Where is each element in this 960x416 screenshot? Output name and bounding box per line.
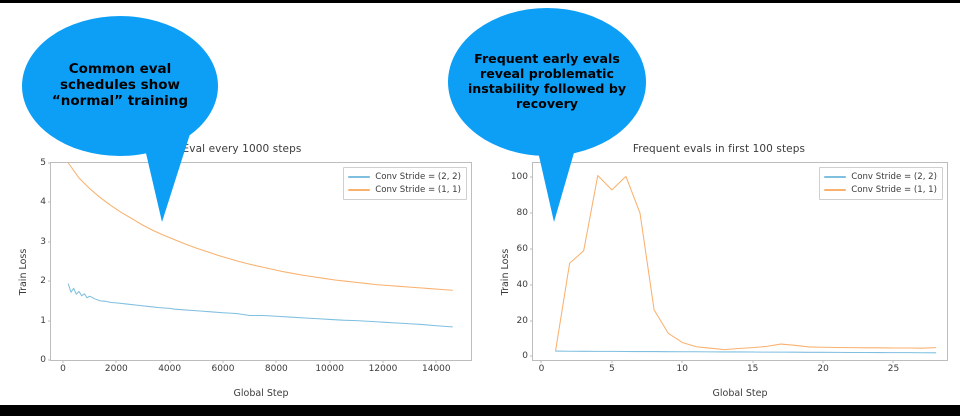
- y-axis-label-right: Train Loss: [500, 249, 511, 296]
- y-axis-label-left: Train Loss: [18, 249, 29, 296]
- y-tick-mark: [48, 360, 51, 361]
- y-tick-mark: [530, 356, 533, 357]
- top-border-rule: [0, 0, 960, 3]
- x-tick-mark: [752, 360, 753, 363]
- x-tick-mark: [276, 360, 277, 363]
- y-tick-label: 1: [40, 316, 46, 326]
- x-tick-label: 8000: [265, 364, 288, 374]
- x-tick-label: 15: [747, 364, 758, 374]
- legend-swatch-orange: [824, 189, 846, 192]
- x-tick-mark: [169, 360, 170, 363]
- x-tick-label: 5: [609, 364, 615, 374]
- legend-item-blue: Conv Stride = (2, 2): [824, 171, 937, 183]
- callout-bubble-right-body: Frequent early evals reveal problematic …: [448, 8, 646, 156]
- y-tick-mark: [48, 281, 51, 282]
- x-tick-label: 6000: [212, 364, 235, 374]
- x-tick-mark: [611, 360, 612, 363]
- y-tick-label: 3: [40, 237, 46, 247]
- x-tick-mark: [541, 360, 542, 363]
- y-tick-mark: [530, 320, 533, 321]
- y-tick-label: 40: [517, 280, 528, 290]
- y-tick-label: 60: [517, 244, 528, 254]
- legend-swatch-orange: [348, 189, 370, 192]
- x-tick-mark: [383, 360, 384, 363]
- figure-canvas: Eval every 1000 steps Train Loss Global …: [0, 0, 960, 416]
- x-axis-label-right: Global Step: [532, 388, 948, 399]
- x-tick-mark: [682, 360, 683, 363]
- callout-bubble-right-text: Frequent early evals reveal problematic …: [458, 52, 636, 111]
- y-tick-mark: [48, 320, 51, 321]
- y-tick-label: 20: [517, 316, 528, 326]
- callout-bubble-right: Frequent early evals reveal problematic …: [448, 8, 658, 228]
- legend-item-blue: Conv Stride = (2, 2): [348, 171, 461, 183]
- bottom-border-bar: [0, 405, 960, 416]
- y-tick-mark: [48, 241, 51, 242]
- y-tick-label: 0: [522, 351, 528, 361]
- series-line: [556, 351, 936, 353]
- y-tick-mark: [530, 248, 533, 249]
- legend-item-orange: Conv Stride = (1, 1): [348, 184, 461, 196]
- x-tick-mark: [436, 360, 437, 363]
- x-tick-label: 25: [888, 364, 899, 374]
- y-tick-label: 0: [40, 355, 46, 365]
- x-tick-mark: [116, 360, 117, 363]
- x-tick-label: 12000: [369, 364, 398, 374]
- x-tick-mark: [823, 360, 824, 363]
- x-tick-mark: [62, 360, 63, 363]
- callout-bubble-left: Common eval schedules show “normal” trai…: [22, 16, 232, 226]
- x-tick-mark: [223, 360, 224, 363]
- legend-label-blue: Conv Stride = (2, 2): [851, 172, 937, 182]
- x-tick-label: 4000: [158, 364, 181, 374]
- x-tick-label: 0: [539, 364, 545, 374]
- x-tick-label: 0: [60, 364, 66, 374]
- legend-swatch-blue: [348, 176, 370, 179]
- legend-right: Conv Stride = (2, 2) Conv Stride = (1, 1…: [819, 167, 943, 200]
- y-tick-label: 2: [40, 276, 46, 286]
- x-tick-mark: [893, 360, 894, 363]
- x-tick-label: 2000: [105, 364, 128, 374]
- callout-bubble-left-body: Common eval schedules show “normal” trai…: [22, 16, 218, 156]
- legend-swatch-blue: [824, 176, 846, 179]
- x-tick-mark: [329, 360, 330, 363]
- x-tick-label: 10: [677, 364, 688, 374]
- x-tick-label: 14000: [422, 364, 451, 374]
- y-tick-mark: [530, 284, 533, 285]
- x-tick-label: 10000: [315, 364, 344, 374]
- legend-item-orange: Conv Stride = (1, 1): [824, 184, 937, 196]
- callout-bubble-left-text: Common eval schedules show “normal” trai…: [42, 62, 198, 110]
- x-axis-label-left: Global Step: [50, 388, 472, 399]
- x-tick-label: 20: [817, 364, 828, 374]
- legend-label-orange: Conv Stride = (1, 1): [851, 185, 937, 195]
- series-line: [68, 284, 452, 327]
